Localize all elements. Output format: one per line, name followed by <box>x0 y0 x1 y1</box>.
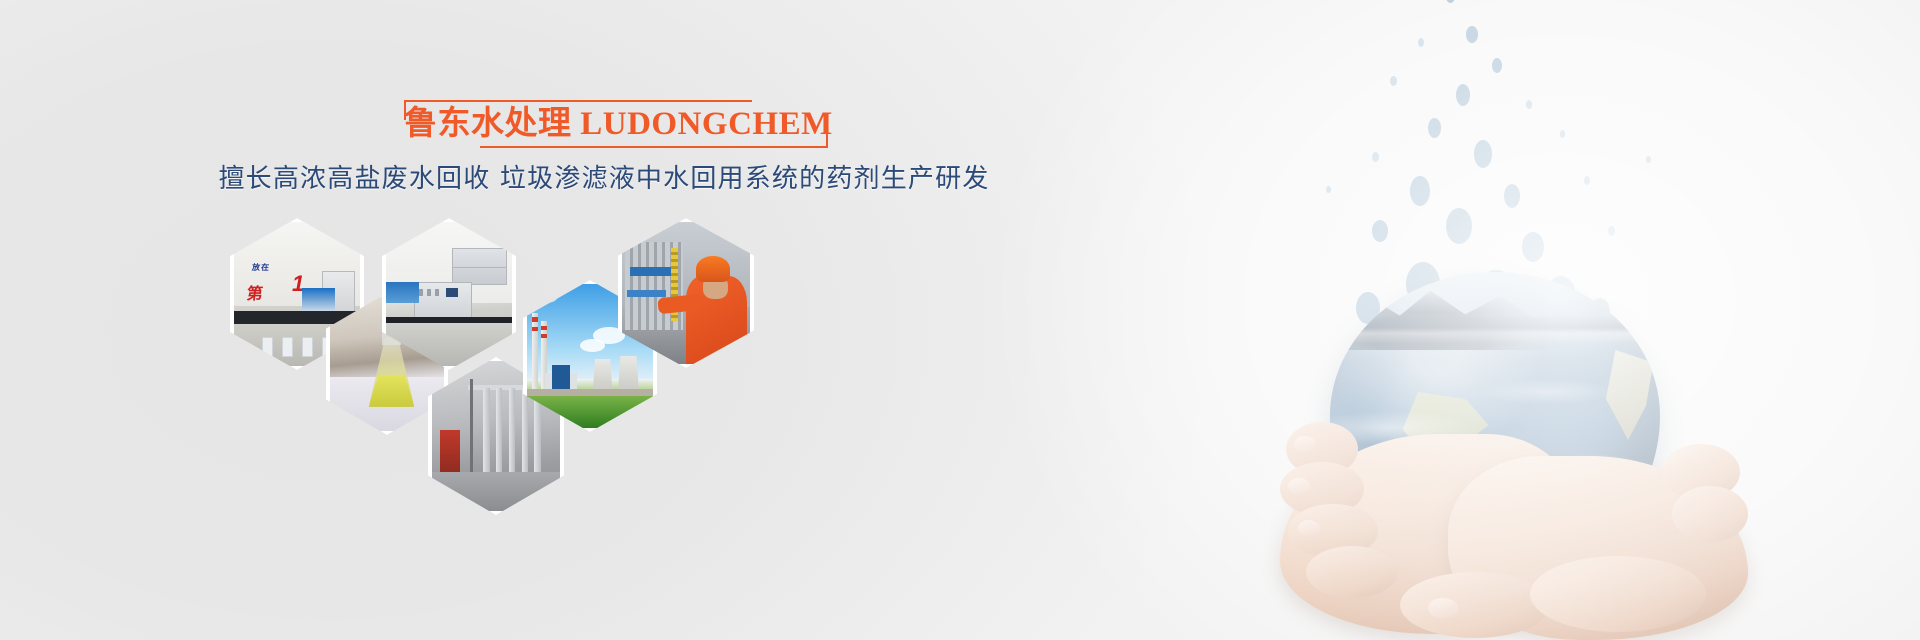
finger <box>1306 546 1398 598</box>
water-droplet <box>1608 226 1615 236</box>
membrane-tube <box>483 388 489 472</box>
skid-frame <box>470 379 473 484</box>
panel-display <box>446 288 458 297</box>
equipment-room-image <box>386 222 512 366</box>
panel-indicator <box>427 289 431 296</box>
blue-valve-row <box>630 267 674 276</box>
water-droplet <box>1410 176 1430 206</box>
water-droplet <box>1522 232 1544 262</box>
water-droplet <box>1584 176 1590 185</box>
water-droplet <box>1446 0 1455 3</box>
water-droplet <box>1646 156 1651 163</box>
wall-slogan-top: 放在 <box>251 262 270 273</box>
membrane-tube <box>522 388 528 472</box>
ground-strip <box>527 389 653 396</box>
red-equipment-cabinet <box>440 430 460 475</box>
promo-banner: 鲁东水处理 LUDONGCHEM 擅长高浓高盐废水回收 垃圾渗滤液中水回用系统的… <box>0 0 1920 640</box>
panel-indicator <box>435 289 439 296</box>
water-droplet <box>1466 26 1478 43</box>
thumb <box>1400 572 1550 638</box>
membrane-tube <box>509 388 515 472</box>
reagent-jug <box>262 337 273 357</box>
water-droplet <box>1474 140 1492 168</box>
fingernail <box>1294 436 1316 452</box>
blue-equipment <box>386 282 419 302</box>
water-droplet <box>1492 58 1502 73</box>
water-droplet <box>1526 100 1532 109</box>
water-droplet <box>1372 152 1379 162</box>
banner-subtitle: 擅长高浓高盐废水回收 垃圾渗滤液中水回用系统的药剂生产研发 <box>218 158 990 195</box>
fingernail <box>1298 520 1320 536</box>
steam-plume <box>580 339 605 352</box>
water-droplet <box>1326 186 1331 193</box>
cupped-hands <box>1280 400 1750 640</box>
membrane-tube <box>496 388 502 472</box>
water-droplet <box>1560 130 1565 138</box>
stack-stripe <box>541 334 547 338</box>
fingernail <box>1288 478 1310 494</box>
wall-slogan-main: 第 <box>245 280 264 304</box>
water-droplet <box>1446 208 1472 244</box>
reagent-jug <box>282 337 293 357</box>
wall-shelving <box>452 248 507 285</box>
water-droplet <box>1390 76 1397 86</box>
stack-stripe <box>541 326 547 330</box>
floor <box>432 472 560 511</box>
cloud <box>535 293 558 303</box>
water-droplet <box>1418 38 1424 47</box>
water-droplet <box>1428 118 1441 138</box>
water-splash-globe-hero <box>1130 0 1920 640</box>
water-droplet <box>1372 220 1388 242</box>
chimney-stack <box>532 313 538 391</box>
worker-image <box>622 222 750 364</box>
water-droplet <box>1456 84 1470 106</box>
water-droplet <box>1504 184 1520 208</box>
panel-indicator <box>419 289 423 296</box>
stack-stripe <box>532 327 538 332</box>
thumb <box>1530 556 1706 632</box>
reagent-jug <box>302 337 313 357</box>
fingernail <box>1428 598 1458 618</box>
hexagon-photo-collage: 放在 第 1 <box>230 218 1010 618</box>
blue-valve-row <box>627 290 665 297</box>
stack-stripe <box>532 317 538 322</box>
brand-title: 鲁东水处理 LUDONGCHEM <box>404 101 828 147</box>
orange-hard-hat <box>696 256 729 282</box>
finger <box>1672 486 1748 542</box>
lab-instrument <box>302 288 335 314</box>
